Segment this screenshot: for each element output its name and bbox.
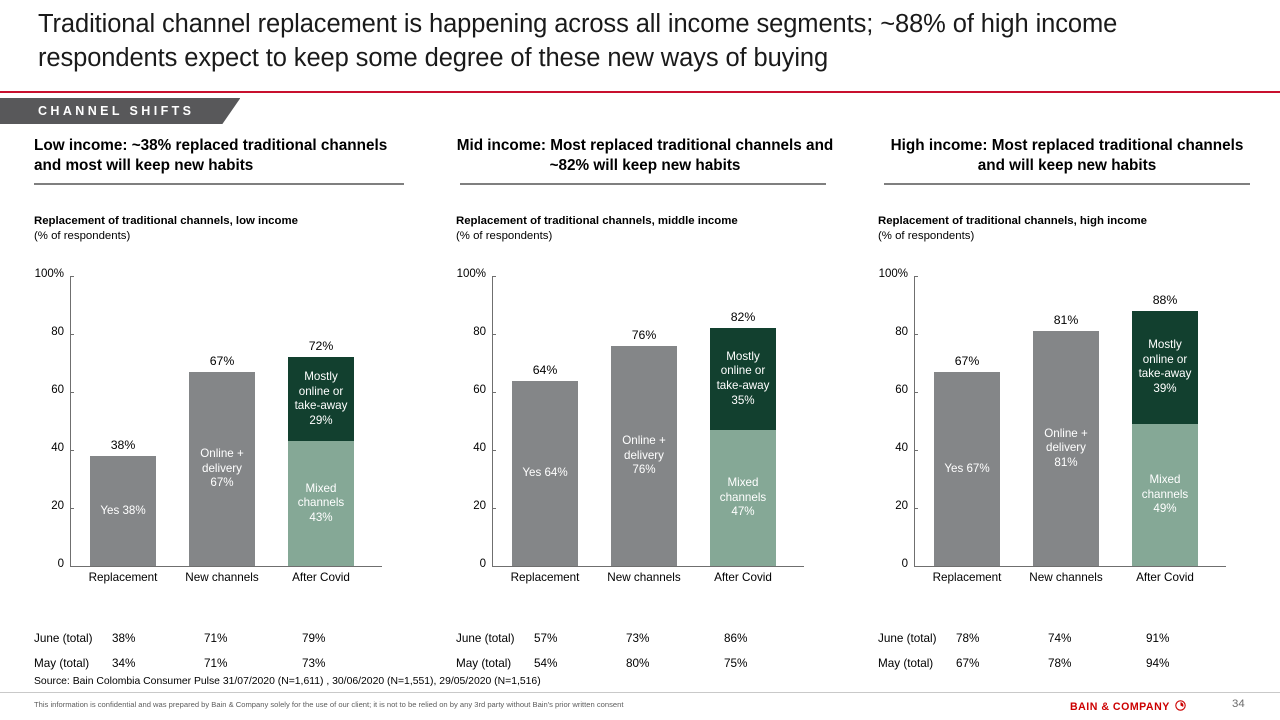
y-axis-tick-label: 40 (34, 442, 64, 454)
source-note: Source: Bain Colombia Consumer Pulse 31/… (34, 676, 541, 687)
y-axis-tick-mark (70, 508, 74, 509)
bar-group: Mixed channels 49%Mostly online or take-… (1132, 276, 1198, 566)
bar-group: Yes 64%64% (512, 276, 578, 566)
row-value: 80% (626, 657, 649, 670)
chart-header: Replacement of traditional channels, low… (34, 214, 412, 244)
bar-segment: Online + delivery 81% (1033, 331, 1099, 566)
chart-title: Replacement of traditional channels, mid… (456, 214, 834, 229)
y-axis-tick-label: 80 (878, 326, 908, 338)
bar-segment: Yes 38% (90, 456, 156, 566)
y-axis-tick-mark (492, 392, 496, 393)
page-title: Traditional channel replacement is happe… (38, 8, 1238, 75)
table-row: June (total)57%73%86% (456, 632, 834, 657)
bar-segment: Mostly online or take-away 39% (1132, 311, 1198, 424)
chart-title: Replacement of traditional channels, low… (34, 214, 412, 229)
row-value: 74% (1048, 632, 1071, 645)
chart-subtitle: (% of respondents) (878, 229, 1256, 244)
panel-mid-income: Mid income: Most replaced traditional ch… (456, 136, 834, 596)
bar-total-label: 38% (90, 438, 156, 452)
bar-segment: Online + delivery 67% (189, 372, 255, 566)
y-axis-tick-label: 60 (878, 384, 908, 396)
y-axis-tick-label: 40 (456, 442, 486, 454)
bar-total-label: 81% (1033, 313, 1099, 327)
bar-segment: Mixed channels 43% (288, 441, 354, 566)
y-axis-tick-mark (492, 334, 496, 335)
y-axis-tick-mark (70, 450, 74, 451)
row-value: 73% (626, 632, 649, 645)
y-axis-tick-mark (70, 334, 74, 335)
bar-segment: Mixed channels 47% (710, 430, 776, 566)
row-label: June (total) (456, 632, 514, 645)
table-row: June (total)78%74%91% (878, 632, 1256, 657)
y-axis-tick-mark (492, 450, 496, 451)
row-label: June (total) (34, 632, 92, 645)
bar-total-label: 64% (512, 363, 578, 377)
footnote-table: June (total)57%73%86%May (total)54%80%75… (456, 632, 834, 682)
chart-subtitle: (% of respondents) (34, 229, 412, 244)
row-value: 78% (956, 632, 979, 645)
bar-total-label: 76% (611, 328, 677, 342)
y-axis-tick-mark (914, 276, 918, 277)
bar-group: Online + delivery 76%76% (611, 276, 677, 566)
y-axis-tick-label: 100% (34, 268, 64, 280)
y-axis-tick-mark (70, 392, 74, 393)
y-axis-tick-mark (492, 276, 496, 277)
y-axis-tick-mark (914, 508, 918, 509)
panel-high-income: High income: Most replaced traditional c… (878, 136, 1256, 596)
y-axis-tick-label: 60 (456, 384, 486, 396)
bar-segment: Yes 64% (512, 381, 578, 567)
panel-headline: High income: Most replaced traditional c… (878, 136, 1256, 178)
row-label: June (total) (878, 632, 936, 645)
x-axis-line (70, 566, 382, 567)
row-value: 73% (302, 657, 325, 670)
bar-group: Yes 38%38% (90, 276, 156, 566)
row-value: 67% (956, 657, 979, 670)
row-value: 54% (534, 657, 557, 670)
title-divider (0, 91, 1280, 93)
confidentiality-notice: This information is confidential and was… (34, 700, 623, 709)
bain-circle-icon (1175, 698, 1186, 716)
row-value: 34% (112, 657, 135, 670)
x-axis-category-label: After Covid (683, 571, 803, 584)
y-axis-tick-label: 100% (456, 268, 486, 280)
row-value: 91% (1146, 632, 1169, 645)
row-label: May (total) (34, 657, 89, 670)
footer-divider (0, 692, 1280, 693)
y-axis-tick-label: 40 (878, 442, 908, 454)
y-axis-tick-label: 80 (456, 326, 486, 338)
bar-chart: 020406080100%Yes 67%67%ReplacementOnline… (878, 266, 1256, 596)
y-axis-tick-label: 80 (34, 326, 64, 338)
brand-logo: BAIN & COMPANY (1070, 698, 1186, 716)
row-value: 78% (1048, 657, 1071, 670)
x-axis-line (492, 566, 804, 567)
y-axis-tick-mark (914, 334, 918, 335)
bar-segment: Online + delivery 76% (611, 346, 677, 566)
bar-total-label: 72% (288, 339, 354, 353)
y-axis-tick-label: 100% (878, 268, 908, 280)
y-axis-tick-mark (492, 566, 496, 567)
row-value: 71% (204, 632, 227, 645)
bar-total-label: 88% (1132, 293, 1198, 307)
panel-headline: Mid income: Most replaced traditional ch… (456, 136, 834, 178)
y-axis-tick-label: 60 (34, 384, 64, 396)
row-value: 75% (724, 657, 747, 670)
chart-header: Replacement of traditional channels, mid… (456, 214, 834, 244)
stacked-bar: Online + delivery 76% (611, 346, 677, 566)
stacked-bar: Yes 64% (512, 381, 578, 567)
bar-group: Yes 67%67% (934, 276, 1000, 566)
stacked-bar: Yes 67% (934, 372, 1000, 566)
panel-headline-divider (884, 183, 1250, 185)
y-axis-line (70, 276, 71, 566)
y-axis-tick-mark (70, 276, 74, 277)
y-axis-tick-label: 20 (878, 500, 908, 512)
table-row: June (total)38%71%79% (34, 632, 412, 657)
y-axis-line (914, 276, 915, 566)
stacked-bar: Mixed channels 47%Mostly online or take-… (710, 328, 776, 566)
y-axis-tick-mark (492, 508, 496, 509)
footnote-table: June (total)78%74%91%May (total)67%78%94… (878, 632, 1256, 682)
y-axis-tick-label: 0 (34, 558, 64, 570)
y-axis-tick-label: 0 (878, 558, 908, 570)
bar-total-label: 67% (189, 354, 255, 368)
row-value: 94% (1146, 657, 1169, 670)
stacked-bar: Mixed channels 43%Mostly online or take-… (288, 357, 354, 566)
panel-headline-divider (34, 183, 404, 185)
y-axis-tick-mark (914, 566, 918, 567)
y-axis-tick-label: 20 (456, 500, 486, 512)
row-value: 38% (112, 632, 135, 645)
bar-segment: Yes 67% (934, 372, 1000, 566)
bar-chart: 020406080100%Yes 38%38%ReplacementOnline… (34, 266, 412, 596)
y-axis-tick-label: 0 (456, 558, 486, 570)
chart-header: Replacement of traditional channels, hig… (878, 214, 1256, 244)
y-axis-tick-mark (70, 566, 74, 567)
row-value: 79% (302, 632, 325, 645)
panel-headline: Low income: ~38% replaced traditional ch… (34, 136, 412, 178)
brand-logo-text: BAIN & COMPANY (1070, 701, 1170, 713)
bar-total-label: 67% (934, 354, 1000, 368)
chart-subtitle: (% of respondents) (456, 229, 834, 244)
row-label: May (total) (456, 657, 511, 670)
row-value: 71% (204, 657, 227, 670)
y-axis-tick-mark (914, 392, 918, 393)
bar-segment: Mostly online or take-away 29% (288, 357, 354, 441)
row-value: 57% (534, 632, 557, 645)
bar-total-label: 82% (710, 310, 776, 324)
stacked-bar: Mixed channels 49%Mostly online or take-… (1132, 311, 1198, 566)
bar-segment: Mixed channels 49% (1132, 424, 1198, 566)
stacked-bar: Online + delivery 81% (1033, 331, 1099, 566)
row-value: 86% (724, 632, 747, 645)
bar-group: Online + delivery 81%81% (1033, 276, 1099, 566)
x-axis-line (914, 566, 1226, 567)
row-label: May (total) (878, 657, 933, 670)
footnote-table: June (total)38%71%79%May (total)34%71%73… (34, 632, 412, 682)
bar-segment: Mostly online or take-away 35% (710, 328, 776, 430)
x-axis-category-label: After Covid (261, 571, 381, 584)
stacked-bar: Online + delivery 67% (189, 372, 255, 566)
bar-chart: 020406080100%Yes 64%64%ReplacementOnline… (456, 266, 834, 596)
panel-low-income: Low income: ~38% replaced traditional ch… (34, 136, 412, 596)
y-axis-tick-label: 20 (34, 500, 64, 512)
bar-group: Mixed channels 47%Mostly online or take-… (710, 276, 776, 566)
bar-group: Mixed channels 43%Mostly online or take-… (288, 276, 354, 566)
panel-headline-divider (460, 183, 826, 185)
y-axis-line (492, 276, 493, 566)
y-axis-tick-mark (914, 450, 918, 451)
section-kicker-banner: CHANNEL SHIFTS (0, 98, 240, 124)
page-number: 34 (1232, 698, 1245, 710)
x-axis-category-label: After Covid (1105, 571, 1225, 584)
bar-group: Online + delivery 67%67% (189, 276, 255, 566)
stacked-bar: Yes 38% (90, 456, 156, 566)
chart-title: Replacement of traditional channels, hig… (878, 214, 1256, 229)
table-row: May (total)67%78%94% (878, 657, 1256, 682)
